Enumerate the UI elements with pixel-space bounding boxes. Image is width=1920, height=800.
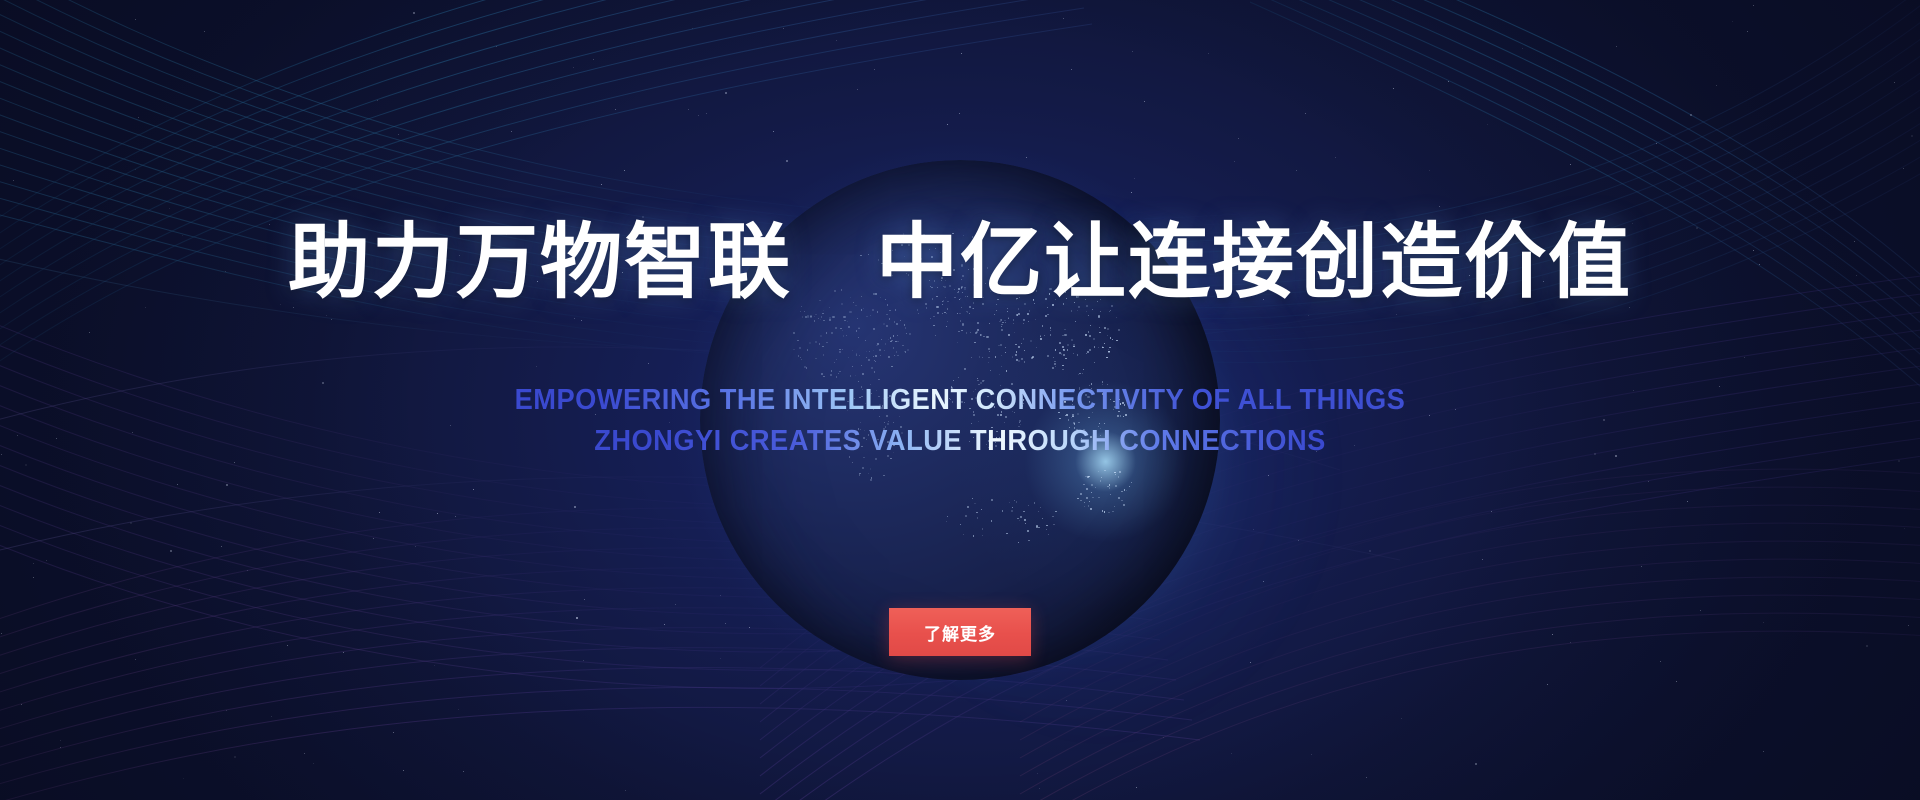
learn-more-button[interactable]: 了解更多 [889, 608, 1031, 656]
cta-container: 了解更多 [0, 608, 1920, 656]
subtitle-line-2: ZHONGYI CREATES VALUE THROUGH CONNECTION… [58, 421, 1863, 462]
page-title: 助力万物智联 中亿让连接创造价值 [0, 222, 1920, 304]
banner-subtitle: EMPOWERING THE INTELLIGENT CONNECTIVITY … [58, 380, 1863, 462]
banner-content: 助力万物智联 中亿让连接创造价值 EMPOWERING THE INTELLIG… [0, 0, 1920, 800]
hero-banner: 助力万物智联 中亿让连接创造价值 EMPOWERING THE INTELLIG… [0, 0, 1920, 800]
subtitle-line-1: EMPOWERING THE INTELLIGENT CONNECTIVITY … [58, 380, 1863, 421]
